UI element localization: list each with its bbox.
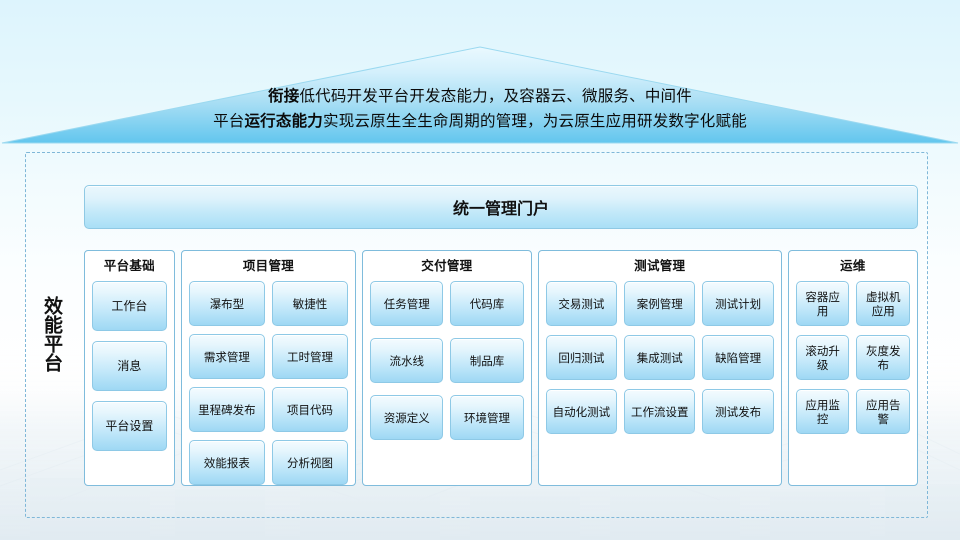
capability-columns: 平台基础 工作台 消息 平台设置 项目管理 瀑布型 敏捷性 需求管理 工时管理 … bbox=[84, 250, 918, 486]
tile-workflow-settings[interactable]: 工作流设置 bbox=[624, 389, 695, 434]
panel-platform-basics: 平台基础 工作台 消息 平台设置 bbox=[84, 250, 175, 486]
tile-grid-test-management: 交易测试 案例管理 测试计划 回归测试 集成测试 缺陷管理 自动化测试 工作流设… bbox=[546, 281, 774, 477]
tile-test-release[interactable]: 测试发布 bbox=[702, 389, 773, 434]
roof-headline-line-2: 平台运行态能力实现云原生全生命周期的管理，为云原生应用研发数字化赋能 bbox=[0, 109, 960, 134]
tile-container-application[interactable]: 容器应用 bbox=[796, 281, 850, 326]
roof-headline-line-1: 衔接低代码开发平台开发态能力，及容器云、微服务、中间件 bbox=[0, 84, 960, 109]
roof-line1-body: 低代码开发平台开发态能力，及容器云、微服务、中间件 bbox=[299, 87, 692, 105]
panel-test-management: 测试管理 交易测试 案例管理 测试计划 回归测试 集成测试 缺陷管理 自动化测试… bbox=[538, 250, 782, 486]
tile-regression-test[interactable]: 回归测试 bbox=[546, 335, 617, 380]
roof-line1-keyword: 衔接 bbox=[268, 87, 299, 105]
panel-title-project-management: 项目管理 bbox=[189, 258, 348, 274]
tile-defect-management[interactable]: 缺陷管理 bbox=[702, 335, 773, 380]
tile-virtual-machine-application[interactable]: 虚拟机应用 bbox=[856, 281, 910, 326]
tile-milestone-release[interactable]: 里程碑发布 bbox=[189, 387, 265, 432]
unified-portal-banner[interactable]: 统一管理门户 bbox=[84, 185, 918, 229]
roof-line2-body: 实现云原生全生命周期的管理，为云原生应用研发数字化赋能 bbox=[323, 112, 747, 130]
tile-requirement-management[interactable]: 需求管理 bbox=[189, 334, 265, 379]
tile-agile[interactable]: 敏捷性 bbox=[272, 281, 348, 326]
page-background: 衔接低代码开发平台开发态能力，及容器云、微服务、中间件 平台运行态能力实现云原生… bbox=[0, 0, 960, 540]
tile-messages[interactable]: 消息 bbox=[92, 341, 167, 391]
tile-efficiency-report[interactable]: 效能报表 bbox=[189, 440, 265, 485]
platform-side-label: 效能平台 bbox=[38, 296, 64, 372]
tile-case-management[interactable]: 案例管理 bbox=[624, 281, 695, 326]
panel-title-test-management: 测试管理 bbox=[546, 258, 774, 274]
tile-rolling-upgrade[interactable]: 滚动升级 bbox=[796, 335, 850, 380]
tile-waterfall[interactable]: 瀑布型 bbox=[189, 281, 265, 326]
tile-environment-management[interactable]: 环境管理 bbox=[450, 395, 523, 440]
tile-application-monitoring[interactable]: 应用监控 bbox=[796, 389, 850, 434]
panel-operations: 运维 容器应用 虚拟机应用 滚动升级 灰度发布 应用监控 应用告警 bbox=[788, 250, 918, 486]
panel-delivery-management: 交付管理 任务管理 代码库 流水线 制品库 资源定义 环境管理 bbox=[362, 250, 531, 486]
tile-grid-operations: 容器应用 虚拟机应用 滚动升级 灰度发布 应用监控 应用告警 bbox=[796, 281, 910, 477]
tile-grid-delivery-management: 任务管理 代码库 流水线 制品库 资源定义 环境管理 bbox=[370, 281, 523, 477]
roof-line2-keyword: 运行态能力 bbox=[244, 112, 323, 130]
panel-title-platform-basics: 平台基础 bbox=[92, 258, 167, 274]
tile-automation-test[interactable]: 自动化测试 bbox=[546, 389, 617, 434]
panel-title-delivery-management: 交付管理 bbox=[370, 258, 523, 274]
tile-timesheet-management[interactable]: 工时管理 bbox=[272, 334, 348, 379]
unified-portal-title: 统一管理门户 bbox=[453, 195, 549, 219]
tile-grid-project-management: 瀑布型 敏捷性 需求管理 工时管理 里程碑发布 项目代码 效能报表 分析视图 bbox=[189, 281, 348, 485]
tile-resource-definition[interactable]: 资源定义 bbox=[370, 395, 443, 440]
roof-line2-prefix: 平台 bbox=[213, 112, 244, 130]
tile-application-alarm[interactable]: 应用告警 bbox=[856, 389, 910, 434]
tile-test-plan[interactable]: 测试计划 bbox=[702, 281, 773, 326]
tile-project-code[interactable]: 项目代码 bbox=[272, 387, 348, 432]
tile-platform-settings[interactable]: 平台设置 bbox=[92, 401, 167, 451]
tile-transaction-test[interactable]: 交易测试 bbox=[546, 281, 617, 326]
tile-task-management[interactable]: 任务管理 bbox=[370, 281, 443, 326]
tile-analysis-view[interactable]: 分析视图 bbox=[272, 440, 348, 485]
roof-headline: 衔接低代码开发平台开发态能力，及容器云、微服务、中间件 平台运行态能力实现云原生… bbox=[0, 84, 960, 134]
tile-workbench[interactable]: 工作台 bbox=[92, 281, 167, 331]
tile-artifact-repository[interactable]: 制品库 bbox=[450, 338, 523, 383]
tile-gray-release[interactable]: 灰度发布 bbox=[856, 335, 910, 380]
tile-grid-platform-basics: 工作台 消息 平台设置 bbox=[92, 281, 167, 477]
tile-code-repository[interactable]: 代码库 bbox=[450, 281, 523, 326]
panel-title-operations: 运维 bbox=[796, 258, 910, 274]
tile-integration-test[interactable]: 集成测试 bbox=[624, 335, 695, 380]
panel-project-management: 项目管理 瀑布型 敏捷性 需求管理 工时管理 里程碑发布 项目代码 效能报表 分… bbox=[181, 250, 356, 486]
tile-pipeline[interactable]: 流水线 bbox=[370, 338, 443, 383]
